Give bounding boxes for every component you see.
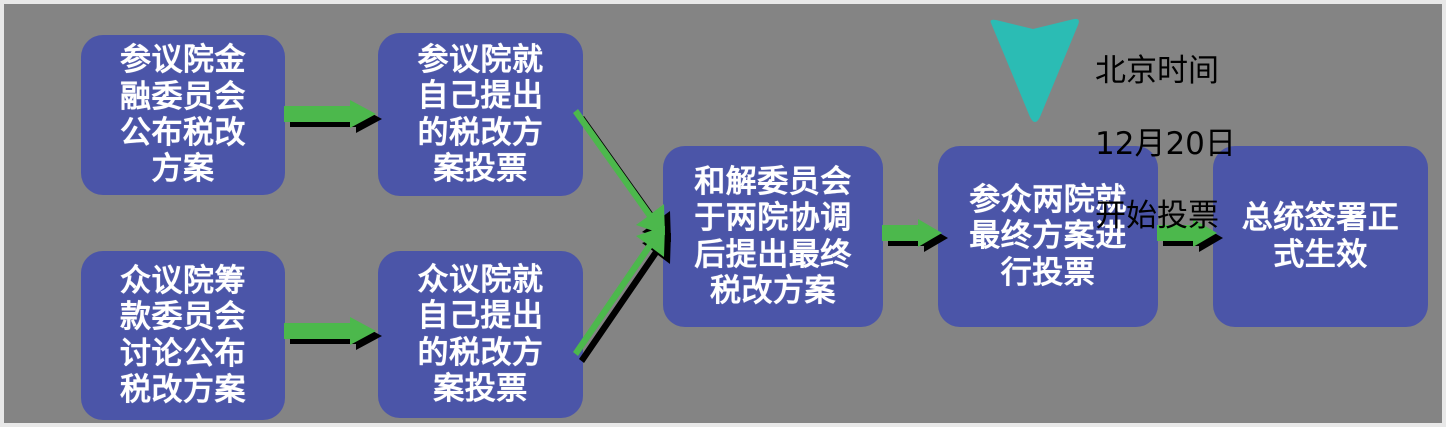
node-house-vote-own-bill[interactable]: 众议院就 自己提出 的税改方 案投票 [378, 251, 583, 418]
voting-start-annotation: 北京时间 12月20日 开始投票 [1095, 17, 1275, 271]
flowchart-canvas: 参议院金 融委员会 公布税改 方案 参议院就 自己提出 的税改方 案投票 众议院… [0, 0, 1446, 427]
node-house-ways-and-means[interactable]: 众议院筹 款委员会 讨论公布 税改方案 [81, 251, 285, 420]
node-conference-committee[interactable]: 和解委员会 于两院协调 后提出最终 税改方案 [663, 146, 883, 327]
arrow-house-vote-to-conference [568, 218, 693, 368]
node-senate-finance-committee[interactable]: 参议院金 融委员会 公布税改 方案 [81, 35, 285, 195]
node-senate-vote-own-bill[interactable]: 参议院就 自己提出 的税改方 案投票 [378, 33, 583, 196]
down-chevron-icon [988, 17, 1082, 125]
node-label: 参议院就 自己提出 的税改方 案投票 [418, 42, 544, 187]
flowchart-surface: 参议院金 融委员会 公布税改 方案 参议院就 自己提出 的税改方 案投票 众议院… [8, 8, 1446, 427]
node-label: 众议院筹 款委员会 讨论公布 税改方案 [120, 263, 246, 408]
node-label: 和解委员会 于两院协调 后提出最终 税改方案 [694, 164, 852, 309]
arrow-conference-to-final-vote [881, 215, 953, 263]
node-label: 参议院金 融委员会 公布税改 方案 [120, 42, 246, 187]
node-label: 众议院就 自己提出 的税改方 案投票 [418, 262, 544, 407]
arrow-senate-committee-to-senate-vote [283, 96, 387, 144]
annotation-line-2: 12月20日 [1095, 126, 1275, 162]
annotation-line-3: 开始投票 [1095, 198, 1275, 234]
annotation-line-1: 北京时间 [1095, 53, 1275, 89]
arrow-house-committee-to-house-vote [283, 313, 387, 361]
